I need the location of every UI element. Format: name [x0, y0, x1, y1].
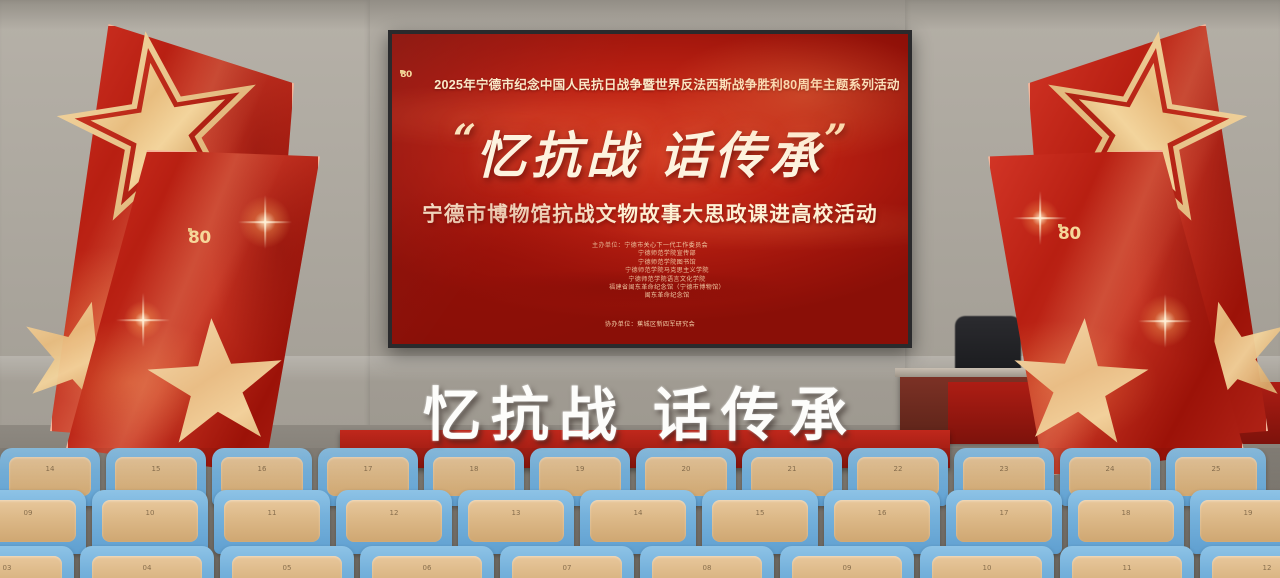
auditorium-seat: 04: [80, 546, 214, 578]
screen-header-text: 2025年宁德市纪念中国人民抗日战争暨世界反法西斯战争胜利80周年主题系列活动: [434, 74, 899, 93]
seat-number: 18: [433, 465, 515, 473]
seat-number: 11: [224, 509, 319, 517]
auditorium-seat: 10: [92, 490, 208, 554]
seat-number: 07: [512, 564, 622, 572]
seat-number: 11: [1072, 564, 1182, 572]
seat-number: 20: [645, 465, 727, 473]
led-screen-frame: 80 2025年宁德市纪念中国人民抗日战争暨世界反法西斯战争胜利80周年主题系列…: [388, 30, 912, 348]
seat-number: 16: [221, 465, 303, 473]
auditorium-seat: 09: [0, 490, 86, 554]
seat-number: 16: [834, 509, 929, 517]
seat-row-front: 03040506070809101112: [0, 546, 1280, 578]
seat-number: 19: [1200, 509, 1280, 517]
auditorium-seat: 15: [702, 490, 818, 554]
title-part-1: 忆抗战: [476, 126, 641, 185]
seat-back-pad: 03: [0, 556, 62, 578]
auditorium-seat: 06: [360, 546, 494, 578]
seat-number: 17: [956, 509, 1051, 517]
led-screen: 80 2025年宁德市纪念中国人民抗日战争暨世界反法西斯战争胜利80周年主题系列…: [392, 34, 908, 344]
auditorium-seat: 12: [1200, 546, 1280, 578]
seat-back-pad: 11: [1072, 556, 1182, 578]
seat-number: 14: [590, 509, 685, 517]
seat-back-pad: 04: [92, 556, 202, 578]
seat-number: 19: [539, 465, 621, 473]
organizer-line: 宁德师范学院语言文化学院: [392, 276, 908, 284]
seat-back-pad: 10: [932, 556, 1042, 578]
seat-number: 08: [652, 564, 762, 572]
auditorium-seat: 18: [1068, 490, 1184, 554]
seat-number: 05: [232, 564, 342, 572]
auditorium-seat: 07: [500, 546, 634, 578]
auditorium-seat: 16: [824, 490, 940, 554]
organizer-list: 主办单位：宁德市关心下一代工作委员会 宁德师范学院宣传部 宁德师范学院图书馆 宁…: [392, 242, 908, 301]
organizer-line: 宁德师范学院图书馆: [392, 259, 908, 267]
screen-header: 80 2025年宁德市纪念中国人民抗日战争暨世界反法西斯战争胜利80周年主题系列…: [392, 70, 908, 97]
auditorium-seat: 14: [580, 490, 696, 554]
seat-number: 10: [932, 564, 1042, 572]
screen-main-title: “忆抗战话传承”: [392, 116, 908, 188]
organizer-line: 宁德师范学院宣传部: [392, 250, 908, 258]
overlay-part-1: 忆抗战: [423, 381, 627, 449]
seat-back-pad: 16: [834, 500, 929, 542]
seat-back-pad: 09: [0, 500, 76, 542]
seat-back-pad: 07: [512, 556, 622, 578]
audience-seating: 141516171819202122232425 091011121314151…: [0, 448, 1280, 578]
seat-number: 15: [115, 465, 197, 473]
seat-number: 12: [1212, 564, 1280, 572]
anniversary-80-emblem-left: 80: [188, 228, 246, 286]
seat-back-pad: 19: [1200, 500, 1280, 542]
seat-number: 25: [1175, 465, 1257, 473]
quote-close: ”: [824, 116, 847, 163]
organizer-label: 主办单位：: [592, 242, 624, 249]
seat-back-pad: 11: [224, 500, 319, 542]
auditorium-seat: 11: [1060, 546, 1194, 578]
seat-number: 24: [1069, 465, 1151, 473]
overlay-part-2: 话传承: [653, 381, 857, 449]
seat-back-pad: 06: [372, 556, 482, 578]
seat-number: 09: [792, 564, 902, 572]
screen-subtitle: 宁德市博物馆抗战文物故事大思政课进高校活动: [392, 197, 908, 227]
auditorium-seat: 17: [946, 490, 1062, 554]
seat-number: 13: [468, 509, 563, 517]
auditorium-seat: 12: [336, 490, 452, 554]
seat-back-pad: 12: [1212, 556, 1280, 578]
seat-number: 17: [327, 465, 409, 473]
seat-back-pad: 15: [712, 500, 807, 542]
seat-number: 09: [0, 509, 76, 517]
auditorium-seat: 03: [0, 546, 74, 578]
title-part-2: 话传承: [659, 126, 824, 185]
overlay-headline: 忆抗战话传承: [0, 368, 1280, 452]
seat-number: 03: [0, 564, 62, 572]
auditorium-seat: 09: [780, 546, 914, 578]
seat-back-pad: 12: [346, 500, 441, 542]
seat-number: 04: [92, 564, 202, 572]
seat-back-pad: 18: [1078, 500, 1173, 542]
auditorium-seat: 19: [1190, 490, 1280, 554]
seat-number: 06: [372, 564, 482, 572]
presentation-scene: 80 2025年宁德市纪念中国人民抗日战争暨世界反法西斯战争胜利80周年主题系列…: [0, 0, 1280, 578]
auditorium-seat: 08: [640, 546, 774, 578]
auditorium-seat: 10: [920, 546, 1054, 578]
auditorium-seat: 05: [220, 546, 354, 578]
seat-row-middle: 0910111213141516171819: [0, 490, 1280, 554]
seat-back-pad: 05: [232, 556, 342, 578]
seat-back-pad: 10: [102, 500, 197, 542]
seat-number: 23: [963, 465, 1045, 473]
organizer-line: 宁德师范学院马克思主义学院: [392, 267, 908, 275]
seat-back-pad: 09: [792, 556, 902, 578]
anniversary-80-emblem-icon: 80: [400, 70, 427, 97]
co-organizer-line: 协办单位：蕉城区新四军研究会: [392, 319, 908, 328]
quote-open: “: [453, 116, 476, 163]
seat-number: 15: [712, 509, 807, 517]
seat-back-pad: 17: [956, 500, 1051, 542]
organizer-first: 宁德市关心下一代工作委员会: [624, 242, 708, 249]
seat-number: 21: [751, 465, 833, 473]
seat-number: 14: [9, 465, 91, 473]
seat-back-pad: 13: [468, 500, 563, 542]
auditorium-seat: 13: [458, 490, 574, 554]
anniversary-80-emblem-right: 80: [1058, 224, 1116, 282]
organizer-line: 闽东革命纪念馆: [392, 292, 908, 300]
seat-number: 18: [1078, 509, 1173, 517]
seat-number: 10: [102, 509, 197, 517]
seat-number: 12: [346, 509, 441, 517]
seat-number: 22: [857, 465, 939, 473]
seat-back-pad: 08: [652, 556, 762, 578]
seat-back-pad: 14: [590, 500, 685, 542]
auditorium-seat: 11: [214, 490, 330, 554]
